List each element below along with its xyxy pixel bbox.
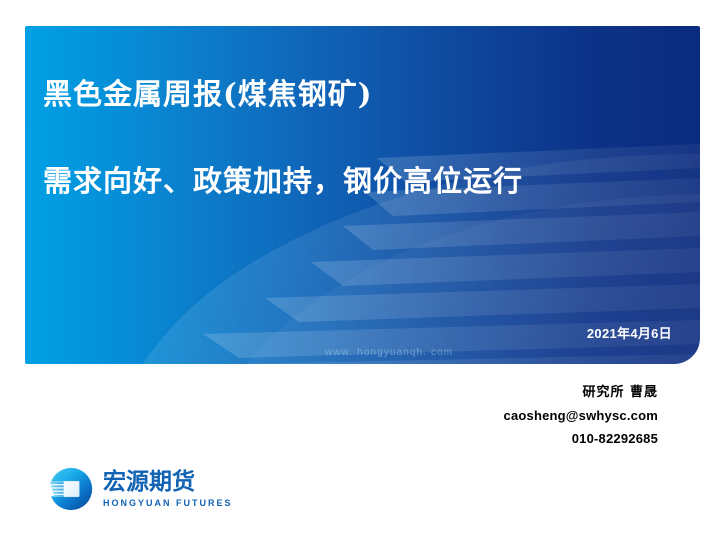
author-phone: 010-82292685: [504, 428, 658, 451]
hero-banner: 黑色金属周报(煤焦钢矿) 需求向好、政策加持，钢价高位运行 2021年4月6日 …: [25, 26, 700, 364]
report-title: 黑色金属周报(煤焦钢矿): [43, 78, 683, 111]
contact-block: 研究所 曹晟 caosheng@swhysc.com 010-82292685: [504, 382, 658, 450]
site-watermark: www. hongyuanqh. com: [325, 347, 453, 358]
logo-wordmark: 宏源期货 HONGYUAN FUTURES: [103, 470, 233, 507]
report-date: 2021年4月6日: [587, 323, 672, 342]
report-subtitle: 需求向好、政策加持，钢价高位运行: [43, 165, 683, 198]
hero-text-block: 黑色金属周报(煤焦钢矿) 需求向好、政策加持，钢价高位运行: [43, 78, 683, 199]
author-email[interactable]: caosheng@swhysc.com: [504, 405, 658, 428]
hongyuan-logo-icon: [48, 466, 94, 512]
logo-name-cn: 宏源期货: [103, 470, 233, 494]
logo-name-en: HONGYUAN FUTURES: [103, 498, 233, 508]
author-name: 研究所 曹晟: [504, 382, 658, 405]
slide-cover: 黑色金属周报(煤焦钢矿) 需求向好、政策加持，钢价高位运行 2021年4月6日 …: [0, 0, 720, 540]
company-logo: 宏源期货 HONGYUAN FUTURES: [48, 466, 233, 512]
